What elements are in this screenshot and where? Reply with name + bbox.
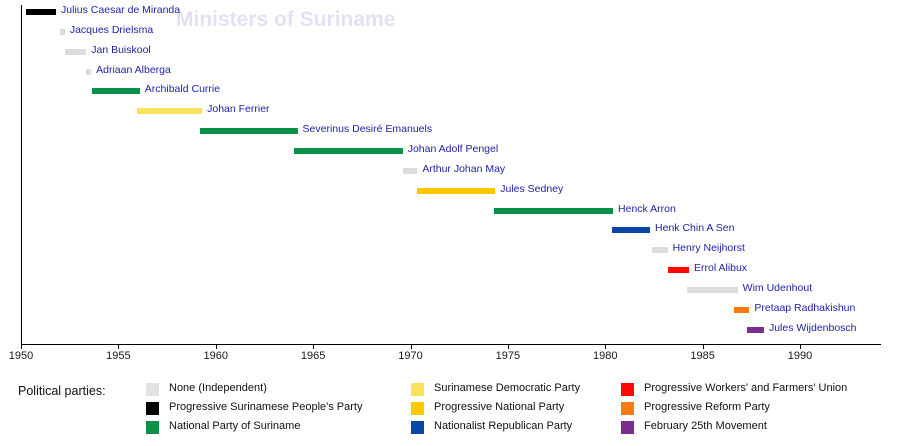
x-axis-tick-label: 1955 (106, 350, 130, 362)
timeline-bar-row: Julius Caesar de Miranda (0, 5, 900, 19)
timeline-bar[interactable] (612, 227, 650, 233)
legend-swatch-icon (146, 383, 159, 396)
legend-label: None (Independent) (169, 382, 267, 394)
timeline-bar[interactable] (60, 29, 65, 35)
legend-swatch-icon (621, 421, 634, 434)
legend-label: Surinamese Democratic Party (434, 382, 580, 394)
timeline-bar-row: Henry Neijhorst (0, 243, 900, 257)
legend-label: National Party of Suriname (169, 420, 300, 432)
timeline-bar[interactable] (65, 49, 86, 55)
timeline-bar-row: Severinus Desiré Emanuels (0, 124, 900, 138)
timeline-bar[interactable] (417, 188, 495, 194)
timeline-bar-row: Arthur Johan May (0, 164, 900, 178)
legend-label: Progressive National Party (434, 401, 564, 413)
timeline-bar-label: Severinus Desiré Emanuels (303, 123, 433, 135)
legend-label: Progressive Workers' and Farmers' Union (644, 382, 847, 394)
timeline-bar-label: Johan Adolf Pengel (408, 143, 499, 155)
timeline-bar[interactable] (494, 208, 613, 214)
legend-swatch-icon (621, 402, 634, 415)
timeline-bar-row: Adriaan Alberga (0, 65, 900, 79)
legend-swatch-icon (621, 383, 634, 396)
x-axis-tick (21, 344, 22, 349)
x-axis-tick-label: 1950 (9, 350, 33, 362)
timeline-bar-label: Jules Sedney (500, 183, 563, 195)
timeline-chart: Ministers of Suriname 195019551960196519… (0, 0, 900, 372)
timeline-bar-label: Jan Buiskool (91, 44, 151, 56)
timeline-bar-label: Henck Arron (618, 203, 676, 215)
x-axis-tick (508, 344, 509, 349)
x-axis-tick-label: 1965 (301, 350, 325, 362)
x-axis-tick-label: 1960 (204, 350, 228, 362)
x-axis-tick (118, 344, 119, 349)
timeline-bar[interactable] (26, 9, 56, 15)
legend-swatch-icon (411, 402, 424, 415)
timeline-bar-row: Archibald Currie (0, 84, 900, 98)
legend-title: Political parties: (18, 384, 106, 398)
legend-swatch-icon (411, 383, 424, 396)
legend-label: Progressive Surinamese People's Party (169, 401, 362, 413)
timeline-bar-row: Jules Wijdenbosch (0, 323, 900, 337)
timeline-bar-label: Arthur Johan May (422, 163, 505, 175)
timeline-bar-row: Pretaap Radhakishun (0, 303, 900, 317)
x-axis-tick (313, 344, 314, 349)
legend-swatch-icon (146, 421, 159, 434)
legend-label: February 25th Movement (644, 420, 767, 432)
timeline-bar[interactable] (734, 307, 750, 313)
timeline-bar[interactable] (200, 128, 297, 134)
timeline-bar-label: Henk Chin A Sen (655, 222, 734, 234)
x-axis-tick-label: 1970 (398, 350, 422, 362)
x-axis-tick-label: 1990 (788, 350, 812, 362)
timeline-bar[interactable] (668, 267, 689, 273)
legend: Political parties: None (Independent)Pro… (0, 372, 900, 446)
timeline-bar-label: Julius Caesar de Miranda (61, 4, 180, 16)
timeline-bar-row: Jacques Drielsma (0, 25, 900, 39)
timeline-bar[interactable] (92, 88, 140, 94)
timeline-bar-label: Errol Alibux (694, 262, 747, 274)
timeline-bar-row: Johan Adolf Pengel (0, 144, 900, 158)
timeline-bar[interactable] (687, 287, 738, 293)
x-axis-tick (605, 344, 606, 349)
timeline-bar-row: Errol Alibux (0, 263, 900, 277)
timeline-bar[interactable] (747, 327, 764, 333)
timeline-bar[interactable] (294, 148, 403, 154)
timeline-bar-label: Jacques Drielsma (70, 24, 153, 36)
legend-swatch-icon (146, 402, 159, 415)
x-axis-tick-label: 1975 (496, 350, 520, 362)
timeline-bar-label: Wim Udenhout (743, 282, 812, 294)
timeline-bar-label: Adriaan Alberga (96, 64, 171, 76)
x-axis-tick (411, 344, 412, 349)
x-axis-line (21, 344, 881, 345)
timeline-bar-row: Jan Buiskool (0, 45, 900, 59)
timeline-bar[interactable] (137, 108, 202, 114)
timeline-bar-label: Pretaap Radhakishun (754, 302, 855, 314)
legend-label: Progressive Reform Party (644, 401, 770, 413)
x-axis-tick (703, 344, 704, 349)
timeline-bar[interactable] (403, 168, 418, 174)
timeline-bar-label: Jules Wijdenbosch (769, 322, 857, 334)
timeline-bar[interactable] (86, 69, 91, 75)
timeline-bar-row: Henk Chin A Sen (0, 223, 900, 237)
timeline-bar-row: Johan Ferrier (0, 104, 900, 118)
timeline-bar[interactable] (652, 247, 668, 253)
timeline-bar-label: Henry Neijhorst (673, 242, 745, 254)
timeline-bar-row: Jules Sedney (0, 184, 900, 198)
x-axis-tick (800, 344, 801, 349)
timeline-bar-label: Archibald Currie (145, 83, 220, 95)
x-axis-tick (216, 344, 217, 349)
legend-swatch-icon (411, 421, 424, 434)
x-axis-tick-label: 1985 (690, 350, 714, 362)
timeline-bar-row: Henck Arron (0, 204, 900, 218)
legend-label: Nationalist Republican Party (434, 420, 572, 432)
timeline-bar-label: Johan Ferrier (207, 103, 269, 115)
x-axis-tick-label: 1980 (593, 350, 617, 362)
timeline-bar-row: Wim Udenhout (0, 283, 900, 297)
